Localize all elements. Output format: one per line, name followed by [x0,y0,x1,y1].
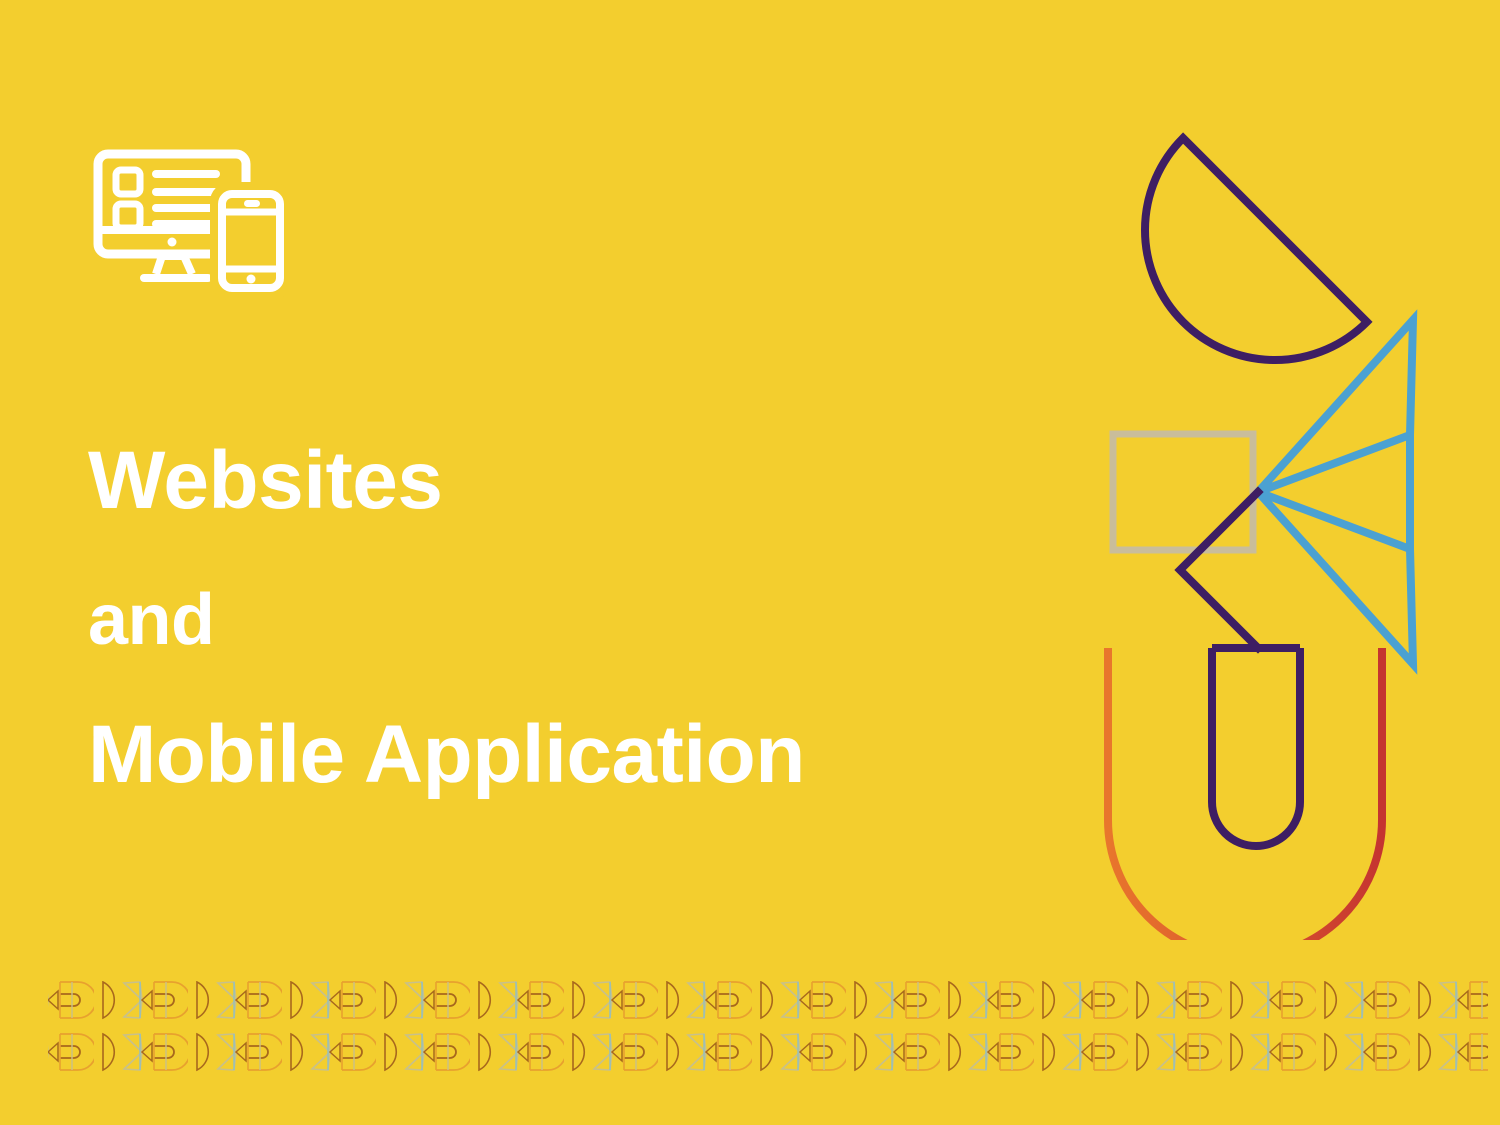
chevron-arrow-shape [1180,492,1258,648]
monitor-dot-icon [168,238,177,247]
u-shape-narrow [1212,648,1300,846]
headline-line-3: Mobile Application [88,714,1068,796]
phone-speaker-icon [244,200,260,207]
decorative-composition-svg [1080,80,1450,940]
headline-line-2: and [88,584,1068,656]
responsive-devices-icon-svg [92,148,308,310]
monitor-stand-icon [156,256,192,274]
decorative-logo-composition [1080,80,1450,940]
pattern-fill-area [48,981,1488,1075]
page-title: Websites and Mobile Application [88,440,1068,796]
logo-motif-pattern-band [0,975,1500,1080]
u-shape-large [1108,648,1382,940]
slide-canvas: Websites and Mobile Application [0,0,1500,1125]
phone-home-button-icon [247,275,256,284]
rectangle-shape [1113,434,1253,550]
pattern-band-svg [0,975,1500,1080]
headline-line-1: Websites [88,440,1068,522]
content-square-top-icon [116,170,140,194]
bowtie-lower-triangle-shape [1258,492,1413,664]
content-square-bottom-icon [116,204,140,228]
responsive-devices-icon [92,148,308,310]
semicircle-shape [1091,138,1367,414]
